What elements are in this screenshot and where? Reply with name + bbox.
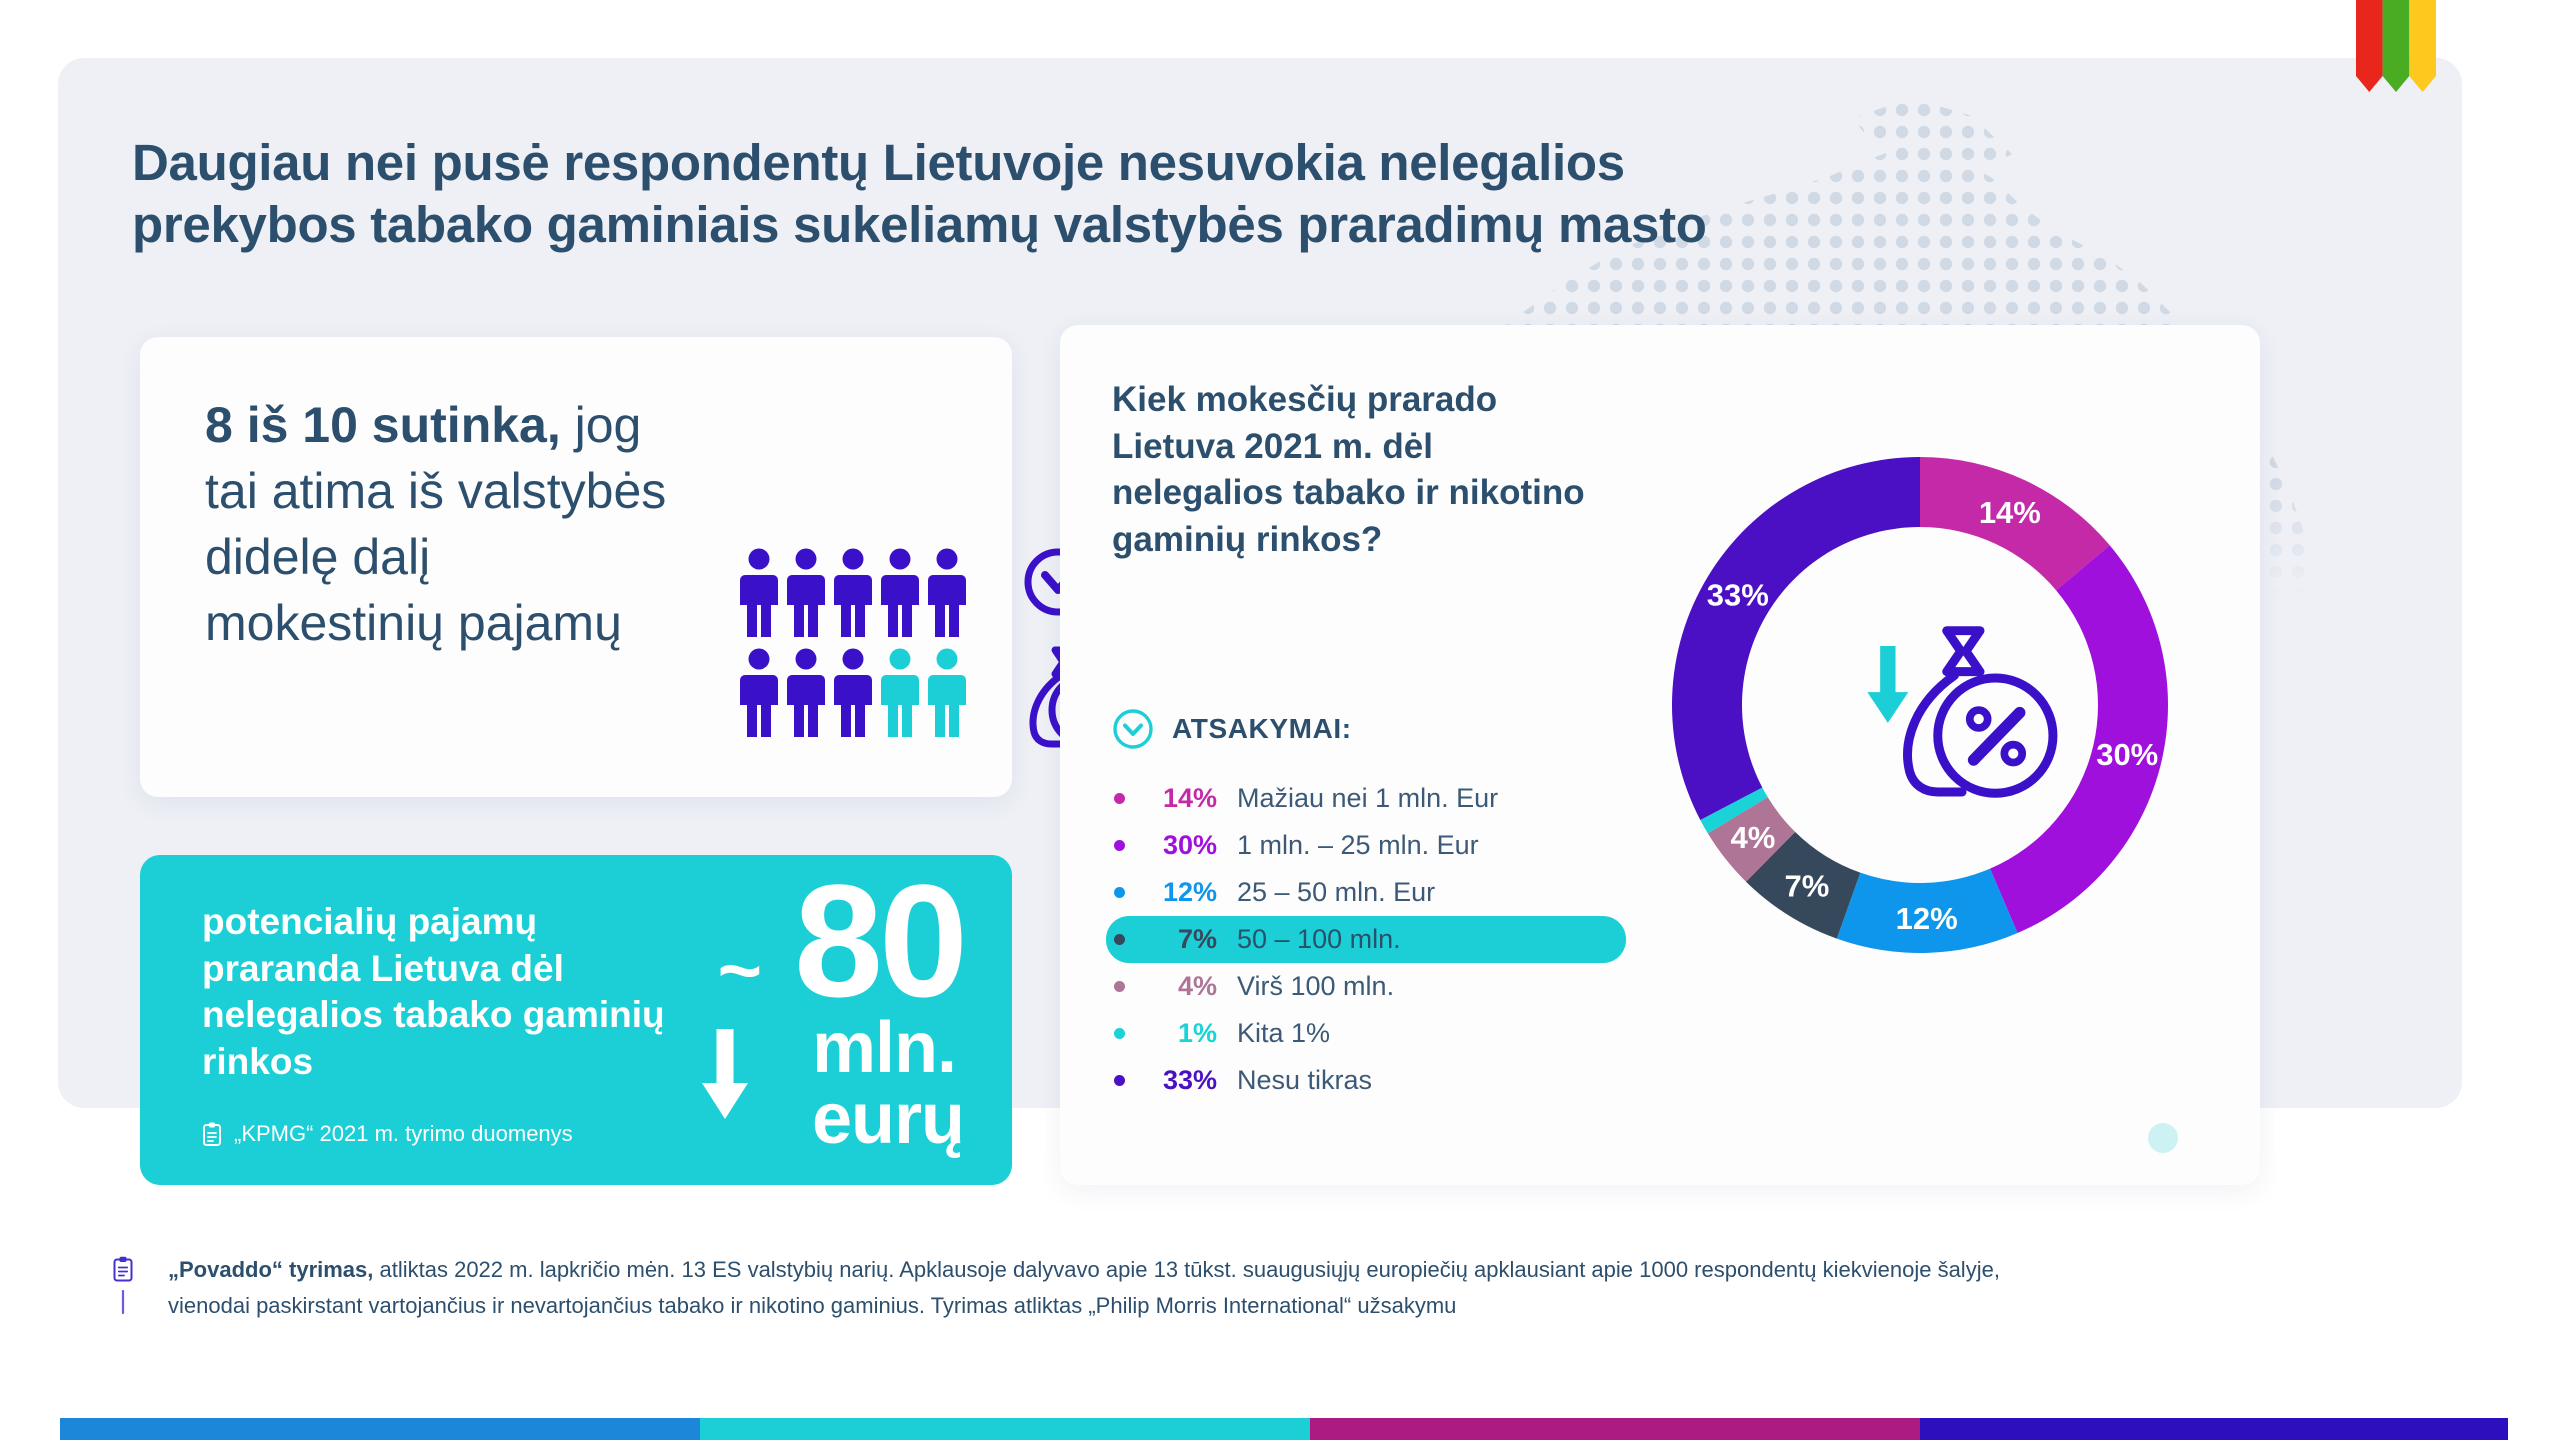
donut-slice-label: 14% <box>1979 495 2041 530</box>
person-icon <box>834 549 872 638</box>
person-icon <box>834 649 872 738</box>
person-icon <box>881 549 919 638</box>
bottom-bar-segment <box>700 1418 1310 1440</box>
answer-color-dot <box>1114 1028 1125 1039</box>
donut-chart: 14%30%12%7%4%33% <box>1620 395 2220 1015</box>
clipboard-icon <box>112 1256 134 1282</box>
person-icon <box>928 649 966 738</box>
footnote-bold-lead: „Povaddo“ tyrimas, <box>168 1257 373 1282</box>
page-title: Daugiau nei pusė respondentų Lietuvoje n… <box>132 132 2422 256</box>
answers-heading: ATSAKYMAI: <box>1112 708 1352 750</box>
answer-label: Mažiau nei 1 mln. Eur <box>1237 783 1498 814</box>
footnote-line-1-rest: atliktas 2022 m. lapkričio mėn. 13 ES va… <box>373 1257 2000 1282</box>
footnote-line-1: „Povaddo“ tyrimas, atliktas 2022 m. lapk… <box>168 1252 2000 1288</box>
answer-label: 25 – 50 mln. Eur <box>1237 877 1435 908</box>
answer-percent: 30% <box>1139 830 1217 861</box>
answer-row[interactable]: 30%1 mln. – 25 mln. Eur <box>1106 822 1626 869</box>
teal-card-unit: mln. eurų <box>812 1013 964 1154</box>
teal-card-approx-sign: ~ <box>718 933 762 1009</box>
person-icon <box>740 649 778 738</box>
teal-card-text: potencialių pajamų praranda Lietuva dėl … <box>202 899 702 1085</box>
teal-card-unit-line-2: eurų <box>812 1084 964 1155</box>
bottom-bar-segment <box>1920 1418 2508 1440</box>
answer-row[interactable]: 14%Mažiau nei 1 mln. Eur <box>1106 775 1626 822</box>
answer-percent: 1% <box>1139 1018 1217 1049</box>
decorative-dot <box>2148 1123 2178 1153</box>
donut-slice-label: 33% <box>1707 578 1769 613</box>
footnote-line-2: vienodai paskirstant vartojančius ir nev… <box>168 1288 2000 1324</box>
answer-row[interactable]: 7%50 – 100 mln. <box>1106 916 1626 963</box>
answer-row[interactable]: 33%Nesu tikras <box>1106 1057 1626 1104</box>
footnote-text: „Povaddo“ tyrimas, atliktas 2022 m. lapk… <box>168 1252 2000 1323</box>
answer-percent: 12% <box>1139 877 1217 908</box>
stat-card-text: 8 iš 10 sutinka, jog tai atima iš valsty… <box>205 392 675 656</box>
answer-label: 50 – 100 mln. <box>1237 924 1401 955</box>
person-icon <box>787 649 825 738</box>
answer-color-dot <box>1114 887 1125 898</box>
donut-slice-label: 30% <box>2096 737 2158 772</box>
answers-list: 14%Mažiau nei 1 mln. Eur30%1 mln. – 25 m… <box>1106 775 1626 1104</box>
answer-row[interactable]: 4%Virš 100 mln. <box>1106 963 1626 1010</box>
lithuania-flag-ribbon-icon <box>2356 0 2436 92</box>
teal-card-number: 80 <box>794 861 964 1021</box>
answer-label: Kita 1% <box>1237 1018 1330 1049</box>
bottom-bar-segment <box>1310 1418 1920 1440</box>
answer-color-dot <box>1114 840 1125 851</box>
person-icon <box>928 549 966 638</box>
stat-card-bold-text: 8 iš 10 sutinka, <box>205 397 561 453</box>
arrow-down-icon <box>698 1027 752 1123</box>
answer-percent: 4% <box>1139 971 1217 1002</box>
answer-color-dot <box>1114 793 1125 804</box>
quiz-question: Kiek mokesčių prarado Lietuva 2021 m. dė… <box>1112 377 1592 563</box>
answer-percent: 14% <box>1139 783 1217 814</box>
donut-slice[interactable] <box>1672 457 1920 820</box>
donut-slice-label: 12% <box>1896 901 1958 936</box>
person-icon <box>740 549 778 638</box>
page-title-line-2: prekybos tabako gaminiais sukeliamų vals… <box>132 194 2422 256</box>
answer-color-dot <box>1114 981 1125 992</box>
answer-percent: 7% <box>1139 924 1217 955</box>
clipboard-icon <box>202 1122 222 1146</box>
teal-card-unit-line-1: mln. <box>812 1013 964 1084</box>
answer-color-dot <box>1114 1075 1125 1086</box>
answer-label: Virš 100 mln. <box>1237 971 1394 1002</box>
answer-label: Nesu tikras <box>1237 1065 1372 1096</box>
person-icon <box>881 649 919 738</box>
answer-color-dot <box>1114 934 1125 945</box>
donut-center-icon <box>1867 631 2053 794</box>
footnote: „Povaddo“ tyrimas, atliktas 2022 m. lapk… <box>112 1252 2472 1323</box>
donut-slice-label: 4% <box>1730 820 1775 855</box>
answer-row[interactable]: 12%25 – 50 mln. Eur <box>1106 869 1626 916</box>
teal-card-figure: ~ 80 mln. eurų <box>670 877 970 1167</box>
quiz-card: Kiek mokesčių prarado Lietuva 2021 m. dė… <box>1060 325 2260 1185</box>
people-pictogram <box>735 547 985 747</box>
teal-card-source-text: „KPMG“ 2021 m. tyrimo duomenys <box>234 1121 573 1147</box>
vertical-bar-icon <box>112 1287 134 1317</box>
footnote-icon-column <box>112 1252 146 1323</box>
arrow-down-icon <box>1867 646 1908 723</box>
page-title-line-1: Daugiau nei pusė respondentų Lietuvoje n… <box>132 132 2422 194</box>
answer-row[interactable]: 1%Kita 1% <box>1106 1010 1626 1057</box>
teal-highlight-card: potencialių pajamų praranda Lietuva dėl … <box>140 855 1012 1185</box>
chevron-down-circle-icon <box>1112 708 1154 750</box>
answer-percent: 33% <box>1139 1065 1217 1096</box>
donut-slice-label: 7% <box>1784 868 1829 903</box>
answers-heading-label: ATSAKYMAI: <box>1172 713 1352 745</box>
bottom-bar-segment <box>60 1418 700 1440</box>
bottom-color-bar <box>60 1418 2508 1440</box>
person-icon <box>787 549 825 638</box>
answer-label: 1 mln. – 25 mln. Eur <box>1237 830 1479 861</box>
stat-card: 8 iš 10 sutinka, jog tai atima iš valsty… <box>140 337 1012 797</box>
